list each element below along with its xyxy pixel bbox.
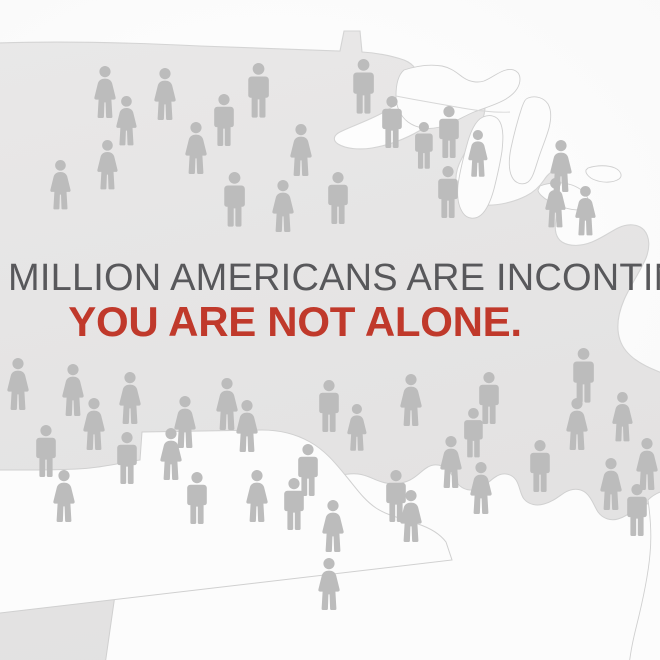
person-icon-shape: [439, 106, 459, 158]
person-icon-female: [97, 140, 117, 189]
person-icon-shape: [248, 63, 269, 118]
person-icon-shape: [236, 400, 257, 452]
person-icon-female: [83, 398, 104, 450]
person-icon-shape: [284, 478, 304, 530]
person-icon-shape: [246, 470, 267, 522]
person-icon-female: [246, 470, 267, 522]
person-icon-shape: [185, 122, 206, 174]
person-icon-shape: [400, 374, 421, 426]
person-icon-male: [328, 172, 348, 224]
person-icon-female: [600, 458, 621, 510]
person-icon-female: [62, 364, 83, 416]
person-icon-female: [53, 470, 74, 522]
person-icon-shape: [612, 392, 632, 441]
person-icon-male: [573, 348, 594, 403]
person-icon-female: [347, 404, 366, 451]
person-icon-shape: [347, 404, 366, 451]
person-icon-shape: [479, 372, 499, 424]
person-icon-shape: [36, 425, 56, 477]
person-icon-female: [575, 186, 595, 235]
person-icon-male: [224, 172, 245, 227]
person-icon-male: [382, 96, 402, 148]
person-icon-female: [7, 358, 28, 410]
person-icon-female: [154, 68, 175, 120]
person-icon-shape: [214, 94, 234, 146]
person-icon-female: [322, 500, 343, 552]
person-icon-shape: [187, 472, 207, 524]
person-icon-female: [290, 124, 311, 176]
person-icon-male: [319, 380, 339, 432]
person-icon-female: [216, 378, 237, 430]
person-icon-male: [530, 440, 550, 492]
person-icon-shape: [353, 59, 374, 114]
person-icon-male: [627, 484, 647, 536]
person-icon-shape: [566, 398, 587, 450]
person-icon-shape: [117, 432, 137, 484]
person-icon-male: [298, 444, 318, 496]
person-icon-female: [116, 96, 136, 145]
person-icon-shape: [636, 438, 657, 490]
person-icon-female: [272, 180, 293, 232]
person-icon-shape: [415, 122, 433, 169]
person-icon-shape: [116, 96, 136, 145]
person-icon-shape: [530, 440, 550, 492]
person-icon-shape: [50, 160, 70, 209]
person-icon-male: [36, 425, 56, 477]
person-icon-shape: [94, 66, 115, 118]
person-icon-shape: [470, 462, 491, 514]
person-icon-shape: [627, 484, 647, 536]
person-icon-shape: [97, 140, 117, 189]
person-icon-shape: [322, 500, 343, 552]
person-icon-male: [284, 478, 304, 530]
person-icon-female: [440, 436, 461, 488]
person-icon-female: [236, 400, 257, 452]
person-icon-shape: [575, 186, 595, 235]
person-icon-male: [415, 122, 433, 169]
person-icon-shape: [600, 458, 621, 510]
person-icon-female: [400, 374, 421, 426]
person-icon-male: [438, 166, 458, 218]
person-icon-male: [439, 106, 459, 158]
population-pictogram-layer: [0, 0, 660, 660]
person-icon-female: [636, 438, 657, 490]
person-icon-shape: [438, 166, 458, 218]
person-icon-shape: [224, 172, 245, 227]
person-icon-shape: [318, 558, 339, 610]
person-icon-male: [479, 372, 499, 424]
person-icon-female: [185, 122, 206, 174]
person-icon-female: [94, 66, 115, 118]
person-icon-female: [318, 558, 339, 610]
person-icon-female: [468, 130, 487, 177]
person-icon-shape: [119, 372, 140, 424]
person-icon-male: [187, 472, 207, 524]
person-icon-female: [612, 392, 632, 441]
person-icon-shape: [290, 124, 311, 176]
person-icon-female: [50, 160, 70, 209]
person-icon-shape: [573, 348, 594, 403]
person-icon-female: [119, 372, 140, 424]
person-icon-shape: [328, 172, 348, 224]
person-icon-shape: [53, 470, 74, 522]
person-icon-female: [470, 462, 491, 514]
person-icon-male: [353, 59, 374, 114]
person-icon-shape: [216, 378, 237, 430]
person-icon-male: [214, 94, 234, 146]
person-icon-shape: [440, 436, 461, 488]
person-icon-shape: [298, 444, 318, 496]
person-icon-female: [174, 396, 195, 448]
person-icon-shape: [62, 364, 83, 416]
person-icon-female: [566, 398, 587, 450]
person-icon-shape: [468, 130, 487, 177]
person-icon-shape: [272, 180, 293, 232]
person-icon-shape: [319, 380, 339, 432]
person-icon-shape: [174, 396, 195, 448]
person-icon-shape: [464, 408, 483, 457]
person-icon-shape: [154, 68, 175, 120]
person-icon-shape: [382, 96, 402, 148]
person-icon-male: [248, 63, 269, 118]
infographic-canvas: MILLION AMERICANS ARE INCONTINEN YOU ARE…: [0, 0, 660, 660]
person-icon-shape: [7, 358, 28, 410]
person-icon-male: [117, 432, 137, 484]
person-icon-male: [464, 408, 483, 457]
person-icon-shape: [83, 398, 104, 450]
